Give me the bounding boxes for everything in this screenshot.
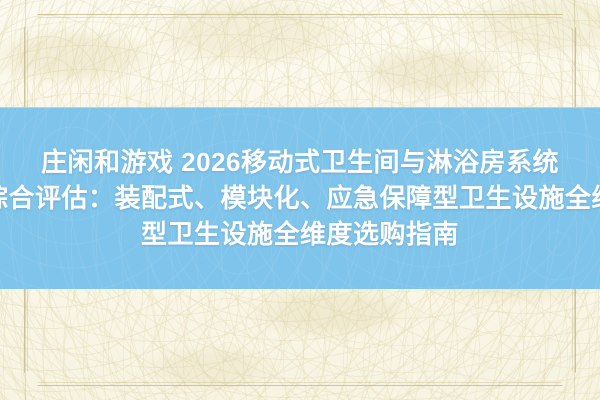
banner-canvas: 庄闲和游戏 2026移动式卫生间与淋浴房系统 综合评估：装配式、模块化、应急保障… [0,0,600,400]
page-title: 庄闲和游戏 2026移动式卫生间与淋浴房系统 综合评估：装配式、模块化、应急保障… [0,144,600,252]
band-top-edge [0,107,600,108]
page-title-line-3: 型卫生设施全维度选购指南 [0,216,600,252]
title-band: 庄闲和游戏 2026移动式卫生间与淋浴房系统 综合评估：装配式、模块化、应急保障… [0,107,600,289]
page-title-line-2: 综合评估：装配式、模块化、应急保障型卫生设施全维 [0,180,600,216]
page-title-line-1: 庄闲和游戏 2026移动式卫生间与淋浴房系统 [0,144,600,180]
